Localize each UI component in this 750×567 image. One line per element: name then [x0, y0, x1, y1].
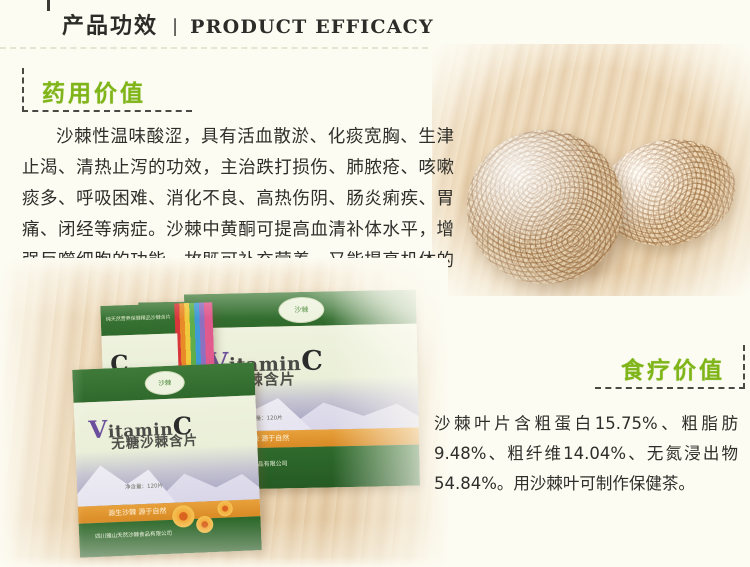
page-title-cn: 产品功效 [62, 8, 158, 40]
title-separator: | [172, 16, 178, 37]
section-heading-dietary: 食疗价值 [595, 345, 745, 389]
product-efficacy-page: 产品功效 | PRODUCT EFFICACY 药用价值 沙棘性温味酸涩，具有活… [0, 0, 750, 567]
page-title-en: PRODUCT EFFICACY [190, 16, 434, 38]
tablets-photo [432, 44, 750, 296]
product-boxes-photo: 沙棘 VitaminC 沙棘含片 净含量：120片 源生沙棘 源于自然 天然沙棘… [0, 258, 448, 567]
photo-vignette [432, 44, 750, 296]
section-heading-medicinal: 药用价值 [22, 68, 192, 112]
dietary-value-paragraph: 沙棘叶片含粗蛋白15.75%、粗脂肪9.48%、粗纤维14.04%、无氮浸出物5… [434, 409, 738, 499]
photo-corner-fade [258, 258, 448, 398]
section-heading-dietary-label: 食疗价值 [621, 351, 725, 385]
page-header: 产品功效 | PRODUCT EFFICACY [0, 8, 750, 46]
section-heading-medicinal-label: 药用价值 [42, 74, 146, 108]
